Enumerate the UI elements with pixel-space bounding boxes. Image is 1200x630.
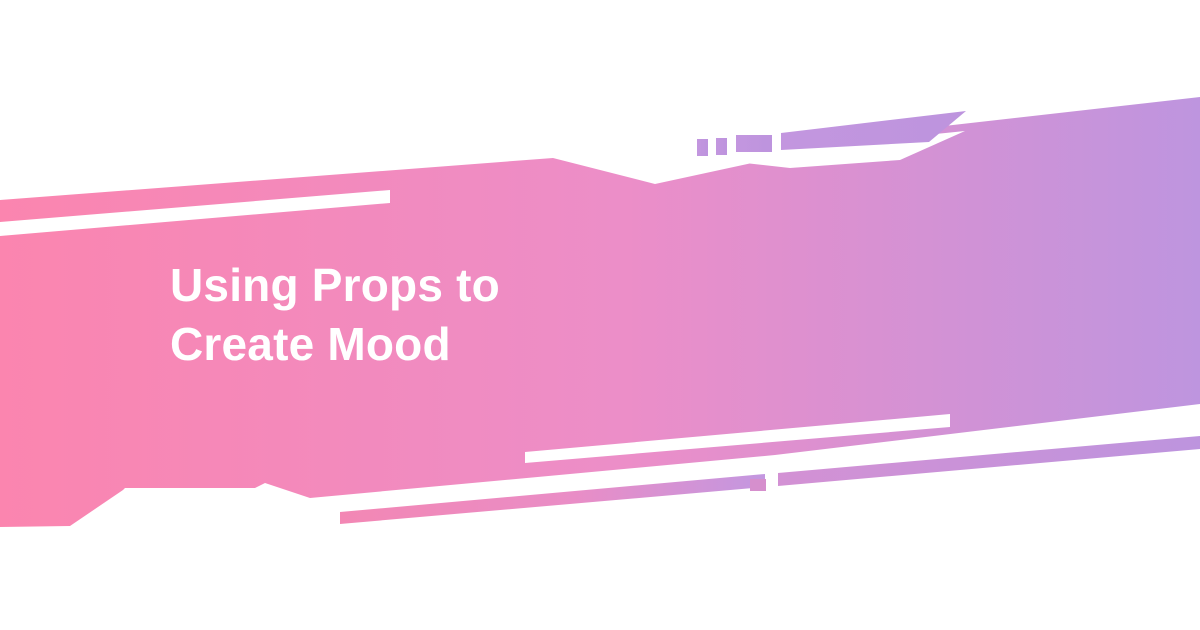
banner-card: Using Props to Create Mood [0, 0, 1200, 630]
top-dash-mark-2 [716, 138, 727, 155]
accent-tick-mark [750, 479, 766, 491]
top-dash-mark-3 [736, 135, 772, 152]
top-dash-mark-1 [697, 139, 708, 156]
banner-artwork [0, 0, 1200, 630]
